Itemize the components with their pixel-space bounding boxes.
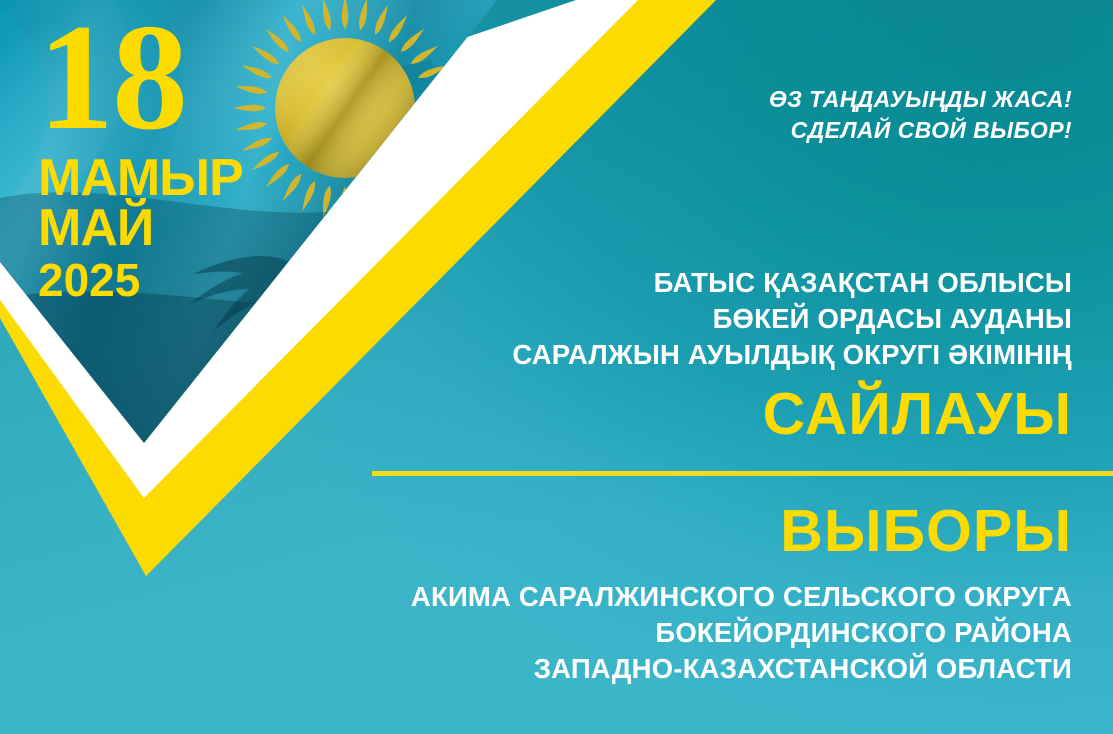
month-name-kazakh: МАМЫР [38,152,288,204]
yellow-divider-line [372,471,1113,476]
month-name-russian: МАЙ [38,202,288,254]
russian-district-line: БОКЕЙОРДИНСКОГО РАЙОНА [372,615,1072,651]
kazakh-region-line: БАТЫС ҚАЗАҚСТАН ОБЛЫСЫ [372,265,1072,301]
election-poster: 18 МАМЫР МАЙ 2025 ӨЗ ТАҢДАУЫҢДЫ ЖАСА! СД… [0,0,1113,734]
kazakh-okrug-line: САРАЛЖЫН АУЫЛДЫҚ ОКРУГІ ӘКІМІНІҢ [372,337,1072,373]
slogan-kazakh: ӨЗ ТАҢДАУЫҢДЫ ЖАСА! [512,84,1072,115]
russian-subtitle-block: АКИМА САРАЛЖИНСКОГО СЕЛЬСКОГО ОКРУГА БОК… [372,579,1072,687]
main-content-column: БАТЫС ҚАЗАҚСТАН ОБЛЫСЫ БӨКЕЙ ОРДАСЫ АУДА… [372,265,1072,687]
slogan-russian: СДЕЛАЙ СВОЙ ВЫБОР! [512,115,1072,146]
year-number: 2025 [38,256,288,304]
russian-okrug-line: АКИМА САРАЛЖИНСКОГО СЕЛЬСКОГО ОКРУГА [372,579,1072,615]
title-kazakh: САЙЛАУЫ [372,385,1072,444]
russian-region-line: ЗАПАДНО-КАЗАХСТАНСКОЙ ОБЛАСТИ [372,651,1072,687]
slogan-block: ӨЗ ТАҢДАУЫҢДЫ ЖАСА! СДЕЛАЙ СВОЙ ВЫБОР! [512,84,1072,146]
kazakh-district-line: БӨКЕЙ ОРДАСЫ АУДАНЫ [372,301,1072,337]
date-block: 18 МАМЫР МАЙ 2025 [38,8,288,304]
kazakh-subtitle-block: БАТЫС ҚАЗАҚСТАН ОБЛЫСЫ БӨКЕЙ ОРДАСЫ АУДА… [372,265,1072,373]
title-russian: ВЫБОРЫ [372,502,1072,561]
day-number: 18 [38,8,288,148]
